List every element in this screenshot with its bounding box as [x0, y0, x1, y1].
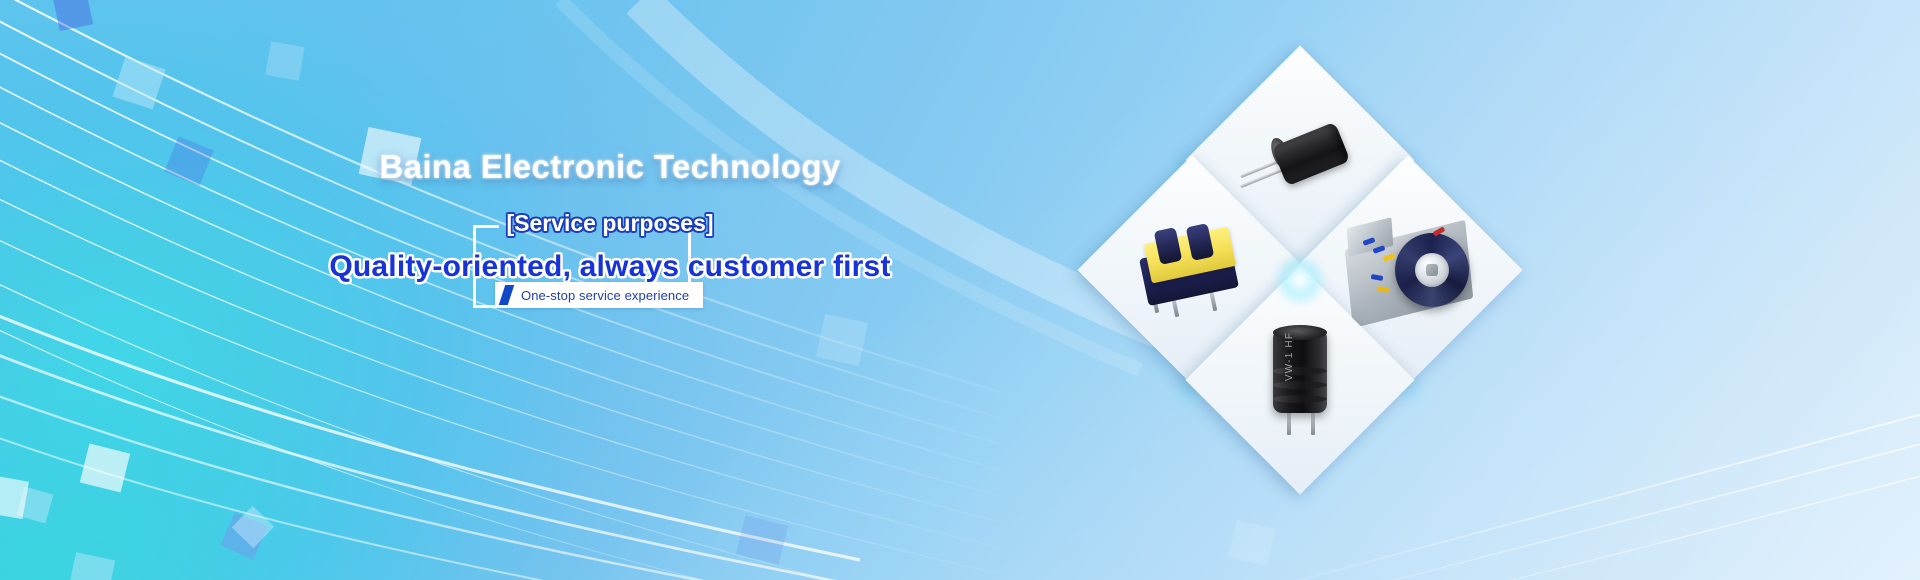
inductor-body — [1272, 122, 1351, 186]
inductor-band — [1273, 395, 1327, 403]
center-glow-icon — [1273, 253, 1327, 307]
one-stop-service-badge: One-stop service experience — [495, 282, 703, 308]
inductor-band — [1273, 381, 1327, 389]
one-stop-service-text: One-stop service experience — [521, 288, 689, 303]
page-title: Baina Electronic Technology — [310, 148, 910, 186]
radial-inductor-image: VW-1 HF — [1225, 305, 1375, 455]
inductor-band — [1273, 367, 1327, 375]
center-bolt — [1426, 264, 1438, 276]
product-diamond-cluster: VW-1 HF — [1105, 85, 1495, 475]
decor-square — [265, 41, 304, 80]
inductor-top — [1273, 325, 1327, 340]
inductor-marking: VW-1 HF — [1284, 332, 1295, 381]
banner-tagline: Quality-oriented, always customer first — [310, 250, 910, 284]
promo-banner: Baina Electronic Technology [Service pur… — [0, 0, 1920, 580]
banner-text-block: Baina Electronic Technology [Service pur… — [310, 140, 910, 340]
service-purposes-label: [Service purposes] — [310, 210, 910, 237]
background-curve-lines — [0, 0, 1920, 580]
accent-slash-icon — [499, 285, 514, 305]
